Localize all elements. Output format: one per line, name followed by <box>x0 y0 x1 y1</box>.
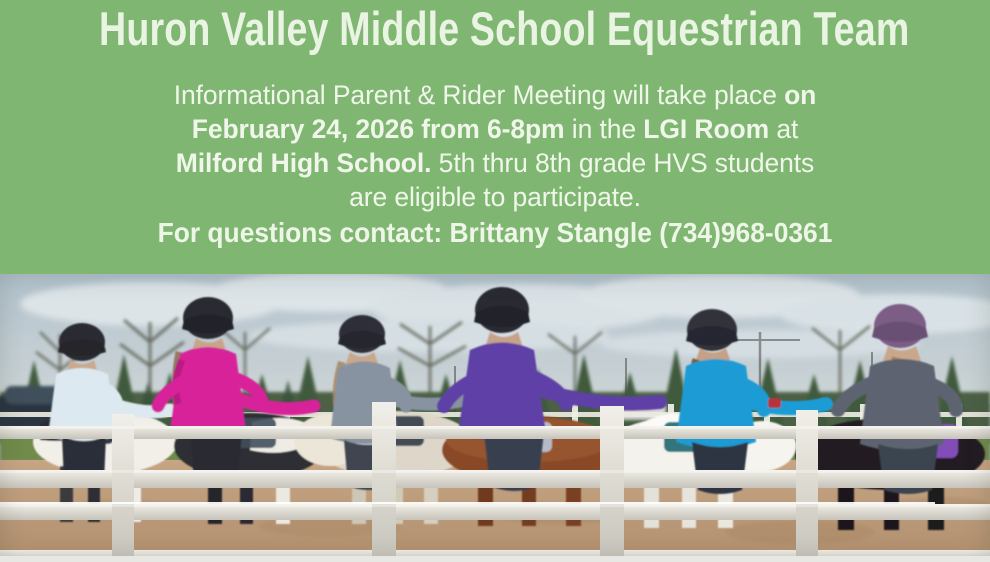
contact-line: For questions contact: Brittany Stangle … <box>20 216 970 250</box>
photo-illustration <box>0 274 990 562</box>
detail-line-4: are eligible to participate. <box>0 180 990 214</box>
detail-bold: on <box>784 80 816 110</box>
detail-text: Informational Parent & Rider Meeting wil… <box>174 80 784 110</box>
detail-text: are eligible to participate. <box>349 182 641 212</box>
detail-bold: LGI Room <box>643 114 769 144</box>
bottom-edge-strip <box>0 556 990 562</box>
detail-text: at <box>769 114 798 144</box>
meeting-details-block: Informational Parent & Rider Meeting wil… <box>0 78 990 214</box>
equestrian-team-photo <box>0 274 990 562</box>
detail-text: 5th thru 8th grade HVS students <box>431 148 814 178</box>
page-title: Huron Valley Middle School Equestrian Te… <box>99 2 891 56</box>
detail-text: in the <box>565 114 644 144</box>
wristwatch <box>768 398 781 408</box>
header-green-band: Huron Valley Middle School Equestrian Te… <box>0 0 990 274</box>
detail-bold: February 24, 2026 from 6-8pm <box>192 114 565 144</box>
detail-line-3: Milford High School. 5th thru 8th grade … <box>0 146 990 180</box>
detail-line-2: February 24, 2026 from 6-8pm in the LGI … <box>0 112 990 146</box>
detail-line-1: Informational Parent & Rider Meeting wil… <box>0 78 990 112</box>
detail-bold: Milford High School. <box>176 148 432 178</box>
poster-flyer: Huron Valley Middle School Equestrian Te… <box>0 0 990 562</box>
overlay-progress-line <box>0 502 935 504</box>
